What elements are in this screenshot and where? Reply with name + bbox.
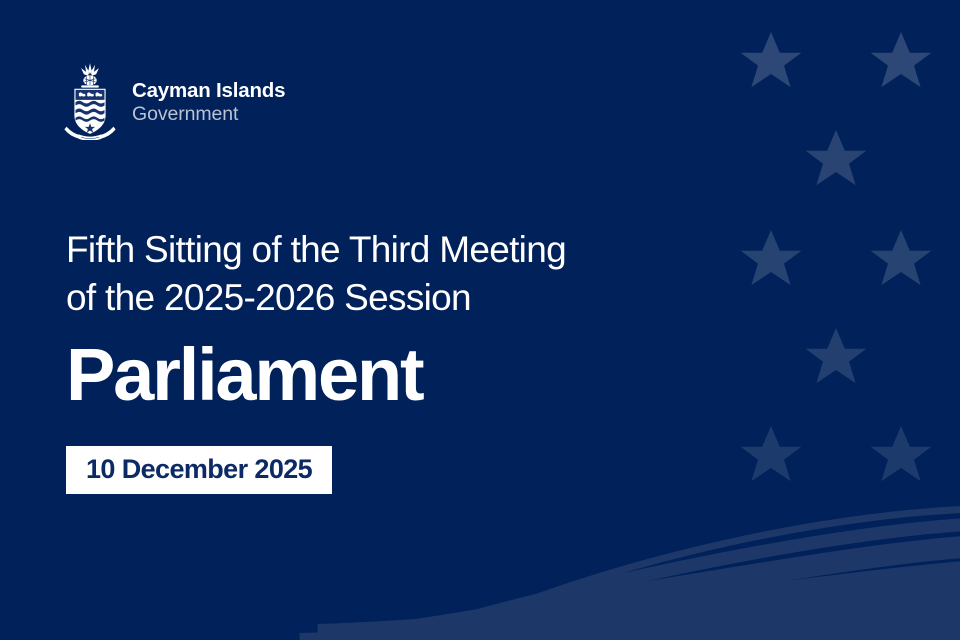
logo-line-cayman-islands: Cayman Islands bbox=[132, 79, 285, 103]
swoosh-band-5 bbox=[300, 614, 960, 640]
announcement-content: Fifth Sitting of the Third Meeting of th… bbox=[66, 226, 706, 494]
swoosh-band-2 bbox=[392, 524, 960, 640]
five-pointed-star-icon bbox=[741, 230, 802, 285]
logo-line-government: Government bbox=[132, 103, 285, 126]
swoosh-group bbox=[296, 509, 960, 640]
government-logo: Cayman Islands Government bbox=[62, 62, 285, 140]
cayman-islands-coat-of-arms-icon bbox=[62, 62, 118, 140]
swoosh-band-4 bbox=[318, 576, 960, 640]
five-pointed-star-icon bbox=[741, 426, 802, 481]
five-pointed-star-icon bbox=[871, 32, 932, 87]
date-badge: 10 December 2025 bbox=[66, 446, 332, 494]
five-pointed-star-icon bbox=[741, 32, 802, 87]
star-group bbox=[741, 32, 932, 481]
page-title: Parliament bbox=[66, 338, 706, 412]
swoosh-band-1 bbox=[430, 509, 960, 640]
five-pointed-star-icon bbox=[871, 230, 932, 285]
five-pointed-star-icon bbox=[806, 328, 867, 383]
five-pointed-star-icon bbox=[806, 130, 867, 185]
parliament-announcement-graphic: Cayman Islands Government Fifth Sitting … bbox=[0, 0, 960, 640]
sitting-session-eyebrow: Fifth Sitting of the Third Meeting of th… bbox=[66, 226, 706, 322]
logo-wordmark: Cayman Islands Government bbox=[132, 75, 285, 127]
five-pointed-star-icon bbox=[871, 426, 932, 481]
swoosh-band-3 bbox=[352, 546, 960, 640]
